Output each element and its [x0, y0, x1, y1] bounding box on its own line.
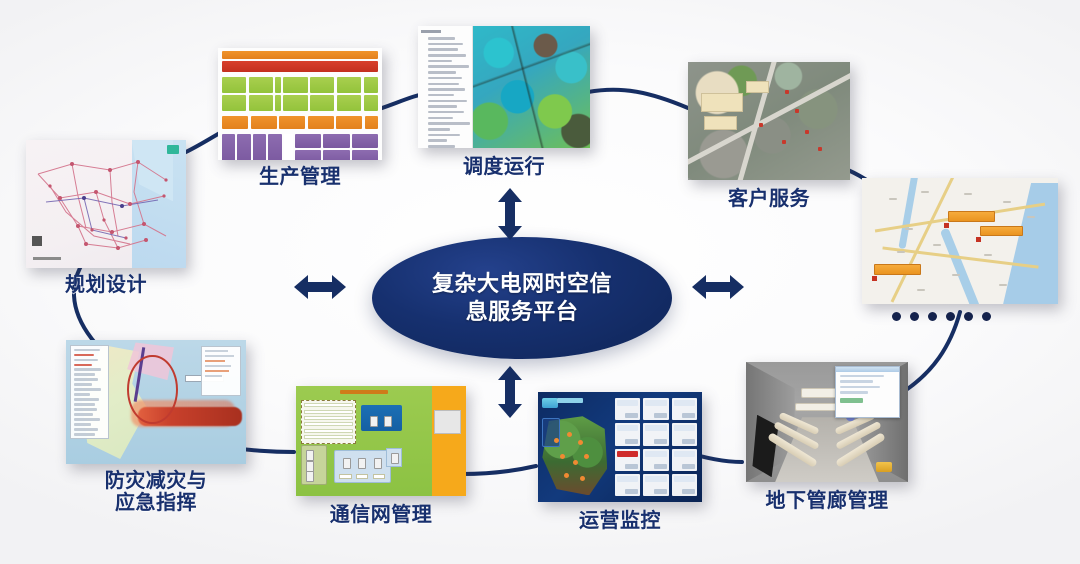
label-customer-service: 客户服务: [728, 188, 810, 210]
comm-external-node: [434, 410, 461, 434]
ops-stat-card[interactable]: [672, 398, 697, 420]
road-map-screenshot[interactable]: [862, 178, 1058, 304]
map-scalebar: [33, 257, 61, 260]
label-pipe-gallery: 地下管廊管理: [766, 490, 889, 512]
node-more-modules[interactable]: [862, 178, 1058, 304]
comm-side-stack: [301, 445, 327, 485]
arrow-right-icon: [692, 272, 744, 302]
diagram-canvas: 复杂大电网时空信 息服务平台: [0, 0, 1080, 564]
disaster-info-sidebar[interactable]: [70, 345, 110, 439]
ops-stat-card[interactable]: [643, 449, 668, 471]
ops-stat-card[interactable]: [643, 398, 668, 420]
communication-screenshot[interactable]: [296, 386, 466, 496]
node-planning[interactable]: 规划设计: [26, 140, 186, 268]
connector-dispatch-customer: [588, 90, 688, 108]
node-dispatch[interactable]: 调度运行: [418, 26, 590, 148]
pipe-gallery-dialog[interactable]: [835, 366, 900, 419]
pipe-gallery-screenshot[interactable]: [746, 362, 908, 482]
node-operation-monitoring[interactable]: 运营监控: [538, 392, 702, 502]
node-production[interactable]: 生产管理: [218, 48, 382, 160]
arrow-left-icon: [294, 272, 346, 302]
map-legend-icon: [32, 236, 42, 246]
map-badge-icon: [167, 145, 179, 154]
dispatch-tree-sidebar[interactable]: [418, 26, 473, 148]
ops-stat-card[interactable]: [672, 423, 697, 445]
planning-screenshot[interactable]: [26, 140, 186, 268]
dispatch-screenshot[interactable]: [418, 26, 590, 148]
label-disaster: 防灾减灾与 应急指挥: [105, 470, 208, 515]
ops-stat-card[interactable]: [615, 398, 640, 420]
comm-list-panel[interactable]: [301, 400, 355, 444]
comm-access-layer[interactable]: [334, 450, 391, 483]
connector-ops-communication: [462, 466, 536, 474]
connector-disaster-planning: [74, 258, 96, 344]
disaster-dialog[interactable]: [201, 346, 241, 396]
ops-stat-grid: [610, 392, 702, 502]
comm-aux-node: [386, 448, 402, 468]
comm-core-node[interactable]: [361, 405, 402, 431]
label-operation-monitoring: 运营监控: [579, 510, 661, 532]
disaster-screenshot[interactable]: [66, 340, 246, 464]
customer-service-screenshot[interactable]: [688, 62, 850, 180]
ops-logo-icon: [542, 398, 558, 408]
node-pipe-gallery[interactable]: 地下管廊管理: [746, 362, 908, 482]
production-screenshot[interactable]: [218, 48, 382, 160]
node-disaster[interactable]: 防灾减灾与 应急指挥: [66, 340, 246, 464]
ops-stat-card[interactable]: [615, 474, 640, 496]
label-communication: 通信网管理: [330, 504, 433, 526]
ops-stat-card[interactable]: [672, 474, 697, 496]
ops-stat-card[interactable]: [672, 449, 697, 471]
label-dispatch: 调度运行: [463, 156, 545, 178]
label-planning: 规划设计: [65, 274, 147, 296]
ops-stat-card[interactable]: [615, 423, 640, 445]
arrow-bottom-icon: [495, 366, 525, 418]
hub-title: 复杂大电网时空信 息服务平台: [432, 270, 612, 326]
ops-stat-card[interactable]: [643, 423, 668, 445]
node-communication[interactable]: 通信网管理: [296, 386, 466, 496]
node-customer-service[interactable]: 客户服务: [688, 62, 850, 180]
ops-stat-card-alert[interactable]: [615, 449, 640, 471]
label-production: 生产管理: [259, 166, 341, 188]
dispatch-raster-map[interactable]: [473, 26, 590, 148]
ops-stat-card[interactable]: [643, 474, 668, 496]
connector-more-pipegallery: [906, 312, 960, 390]
arrow-top-icon: [495, 188, 525, 240]
more-modules-dots: [892, 312, 991, 321]
operation-monitoring-screenshot[interactable]: [538, 392, 702, 502]
central-hub[interactable]: 复杂大电网时空信 息服务平台: [372, 237, 672, 359]
